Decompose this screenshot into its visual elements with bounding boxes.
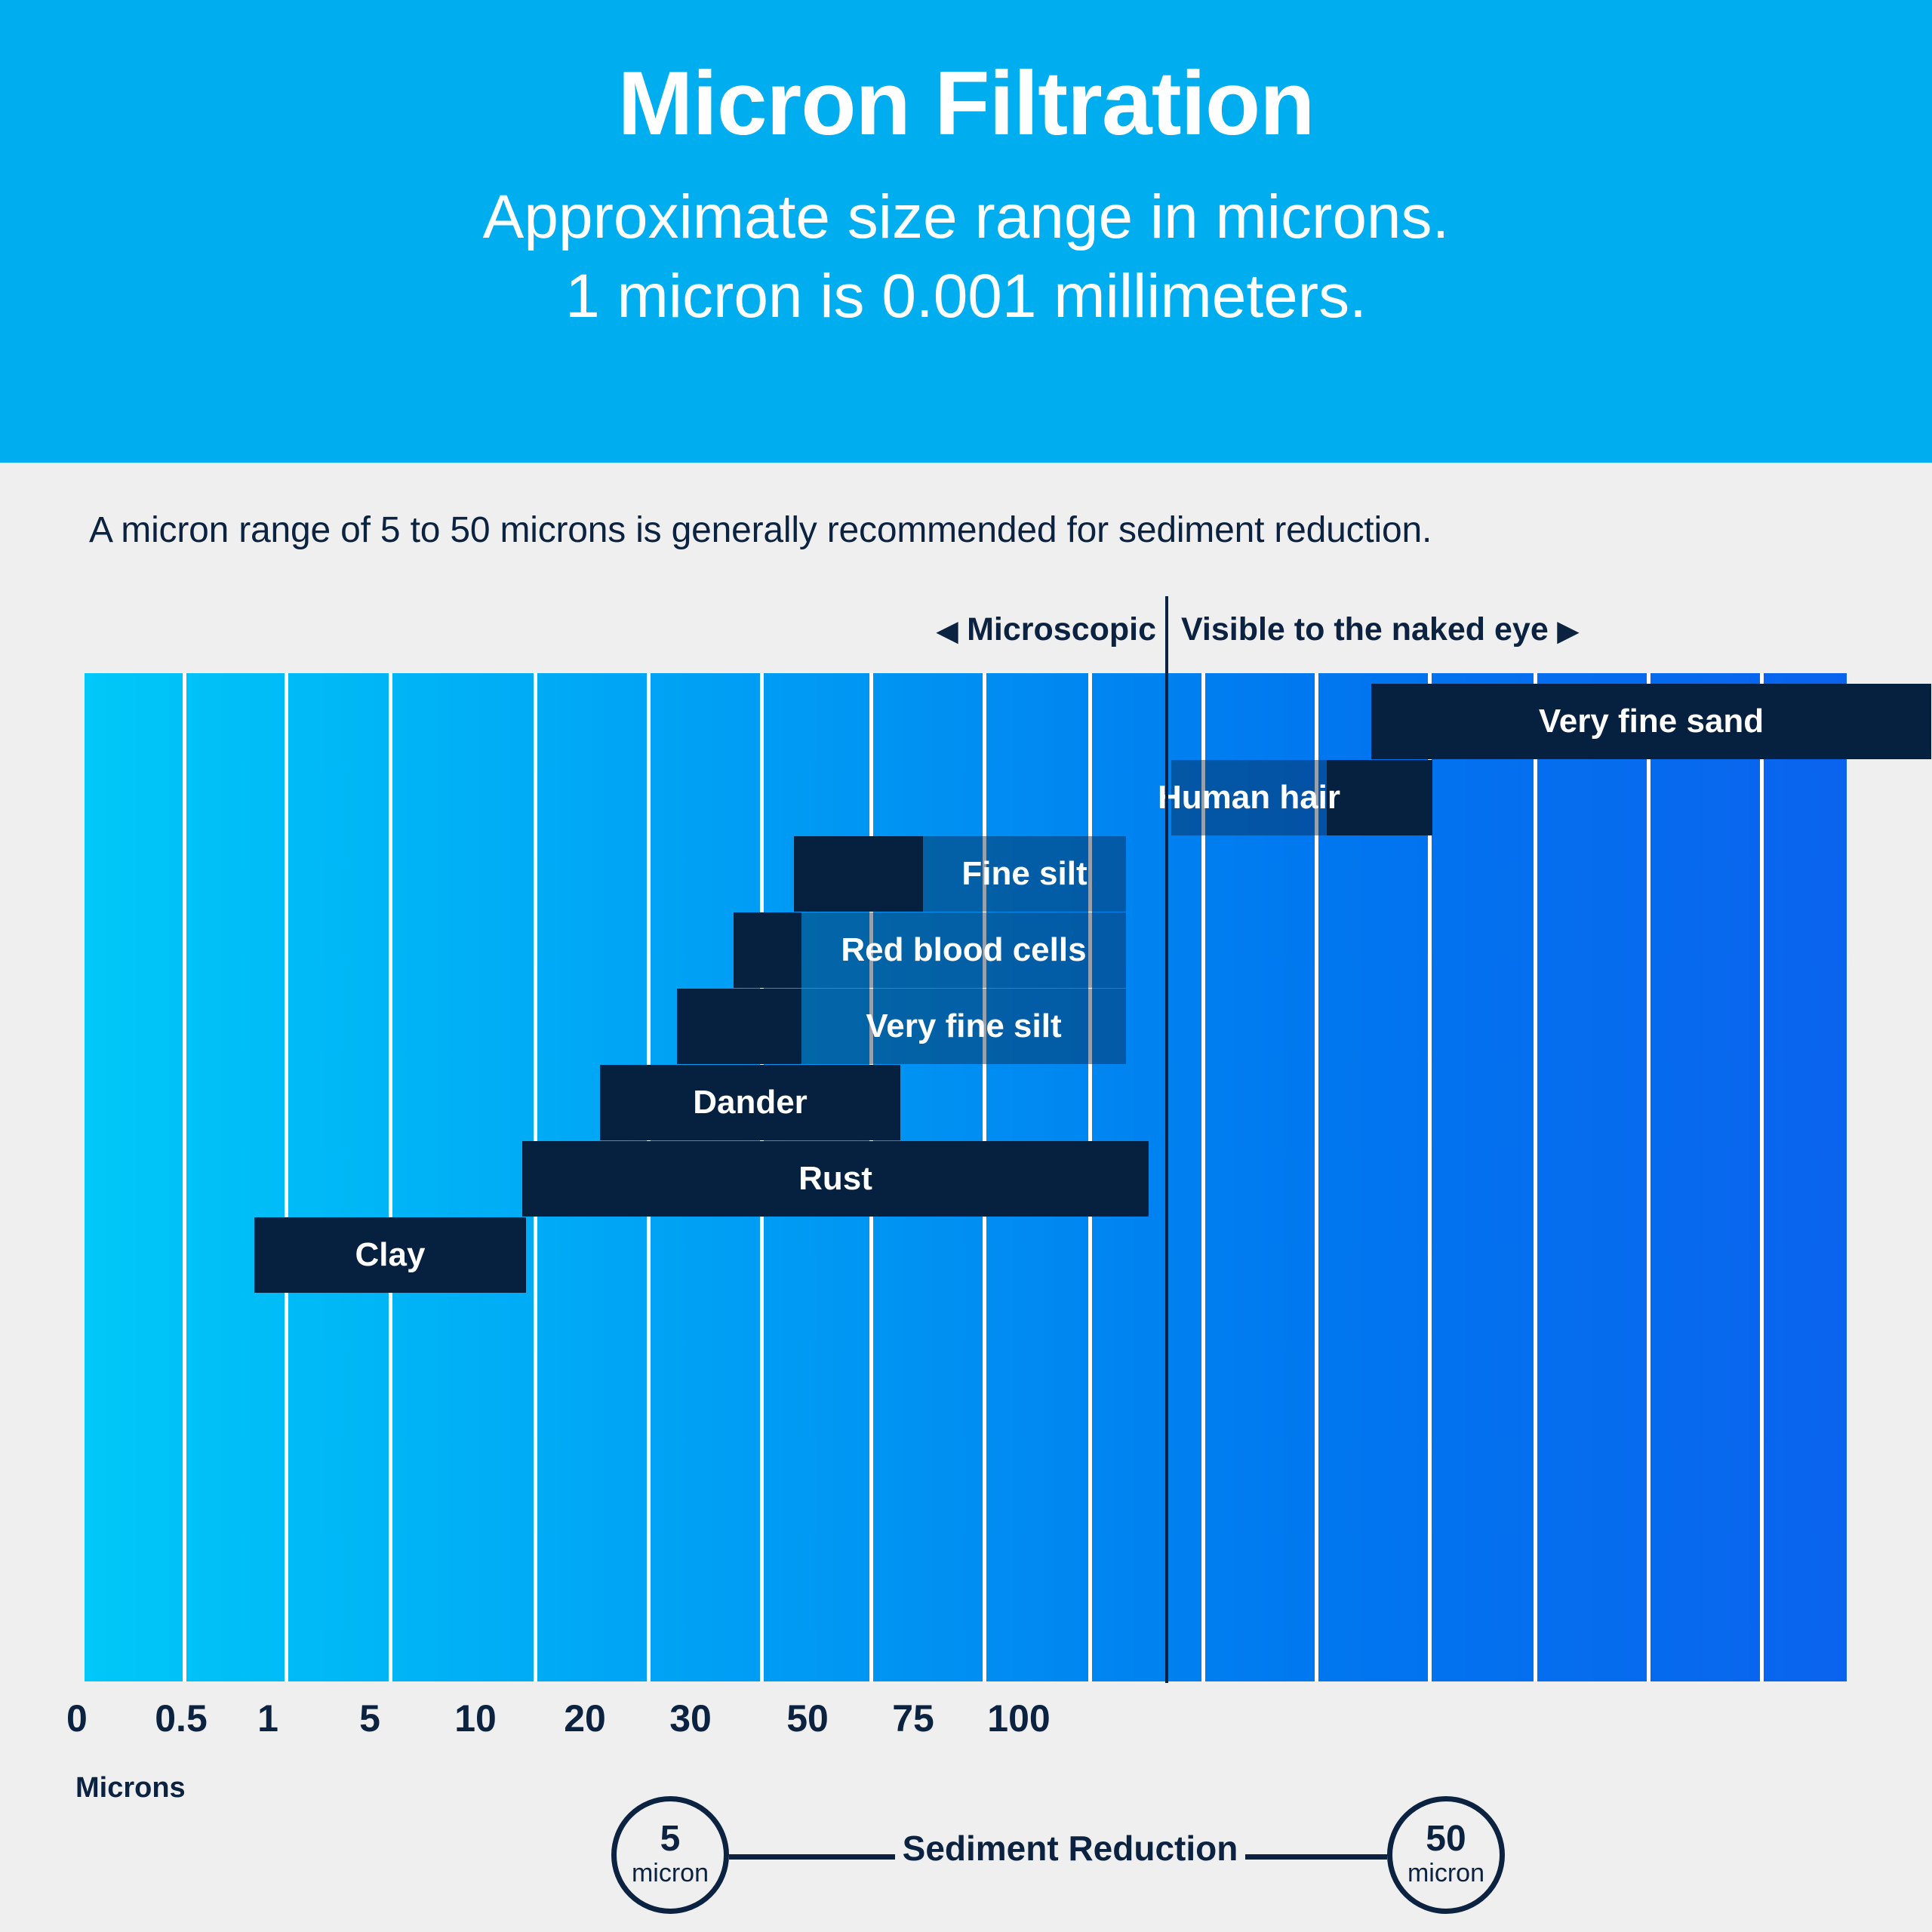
bar-label: Clay bbox=[254, 1217, 526, 1293]
badge-50-micron: 50 micron bbox=[1387, 1796, 1505, 1914]
bar-core-range bbox=[1327, 760, 1432, 835]
axis-tick-100: 100 bbox=[987, 1697, 1050, 1740]
bar-core-range bbox=[794, 836, 923, 912]
bar-row[interactable]: Rust bbox=[85, 1141, 1847, 1217]
microscopic-legend: ◀ Microscopic bbox=[937, 611, 1156, 648]
header-subtitle-line1: Approximate size range in microns. bbox=[483, 178, 1450, 257]
visible-legend: Visible to the naked eye ▶ bbox=[1181, 611, 1578, 648]
left-arrow-icon: ◀ bbox=[937, 615, 958, 646]
recommendation-note: A micron range of 5 to 50 microns is gen… bbox=[89, 509, 1432, 551]
bar-label: Human hair bbox=[1171, 760, 1327, 835]
sediment-reduction-footer: 5 micron Sediment Reduction 50 micron bbox=[0, 1796, 1932, 1924]
axis-tick-0-5: 0.5 bbox=[155, 1697, 208, 1740]
bar-label: Fine silt bbox=[923, 836, 1126, 912]
badge-right-unit: micron bbox=[1407, 1857, 1484, 1890]
bar-label: Red blood cells bbox=[801, 912, 1126, 988]
axis-tick-30: 30 bbox=[669, 1697, 712, 1740]
sediment-reduction-label: Sediment Reduction bbox=[895, 1828, 1245, 1869]
bar-core-range bbox=[677, 989, 801, 1064]
visible-label: Visible to the naked eye bbox=[1181, 611, 1549, 648]
infographic-page: Micron Filtration Approximate size range… bbox=[0, 0, 1932, 1932]
micron-chart-plot: Very fine sandHuman hairFine siltRed blo… bbox=[85, 673, 1847, 1681]
bar-row[interactable]: Very fine silt bbox=[85, 989, 1847, 1064]
bar-row[interactable]: Very fine sand bbox=[85, 684, 1847, 759]
x-axis-ticks: 00.5151020305075100 bbox=[0, 1697, 1932, 1749]
bar-core-range bbox=[734, 912, 801, 988]
bar-row[interactable]: Fine silt bbox=[85, 836, 1847, 912]
page-title: Micron Filtration bbox=[618, 56, 1315, 151]
header-subtitle: Approximate size range in microns. 1 mic… bbox=[483, 178, 1450, 337]
bar-row[interactable]: Dander bbox=[85, 1065, 1847, 1140]
right-arrow-icon: ▶ bbox=[1558, 615, 1579, 646]
bar-label: Very fine sand bbox=[1371, 684, 1931, 759]
connector-right bbox=[1245, 1854, 1387, 1860]
axis-tick-20: 20 bbox=[564, 1697, 606, 1740]
bar-label: Dander bbox=[600, 1065, 900, 1140]
badge-5-micron: 5 micron bbox=[611, 1796, 729, 1914]
bar-label: Rust bbox=[522, 1141, 1149, 1217]
microscopic-label: Microscopic bbox=[967, 611, 1156, 648]
axis-tick-10: 10 bbox=[454, 1697, 497, 1740]
visibility-divider bbox=[1165, 596, 1168, 1683]
bar-label: Very fine silt bbox=[801, 989, 1126, 1064]
badge-left-number: 5 bbox=[660, 1821, 681, 1857]
bar-row[interactable]: Red blood cells bbox=[85, 912, 1847, 988]
axis-tick-1: 1 bbox=[257, 1697, 278, 1740]
header-banner: Micron Filtration Approximate size range… bbox=[0, 0, 1932, 463]
scale-legend: ◀ Microscopic Visible to the naked eye ▶ bbox=[0, 611, 1932, 664]
bar-row[interactable]: Human hair bbox=[85, 760, 1847, 835]
axis-tick-50: 50 bbox=[786, 1697, 829, 1740]
badge-left-unit: micron bbox=[632, 1857, 709, 1890]
connector-left bbox=[729, 1854, 895, 1860]
header-subtitle-line2: 1 micron is 0.001 millimeters. bbox=[483, 257, 1450, 337]
axis-tick-5: 5 bbox=[359, 1697, 380, 1740]
axis-tick-0: 0 bbox=[66, 1697, 88, 1740]
axis-tick-75: 75 bbox=[892, 1697, 934, 1740]
bar-row[interactable]: Clay bbox=[85, 1217, 1847, 1293]
badge-right-number: 50 bbox=[1426, 1821, 1466, 1857]
